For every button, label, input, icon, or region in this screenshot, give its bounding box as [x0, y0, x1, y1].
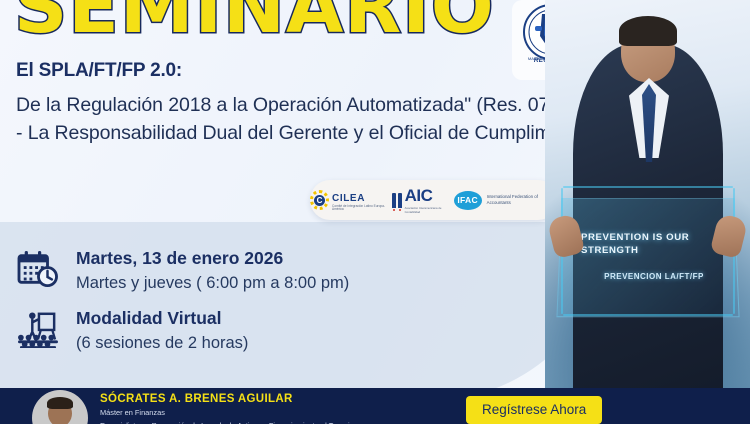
seminar-poster: SEMINARIO El SPLA/FT/FP 2.0: De la Regul…	[0, 0, 750, 424]
ifac-icon: IFAC	[454, 191, 482, 210]
calendar-clock-icon	[14, 248, 62, 288]
schedule-row-date: Martes, 13 de enero 2026 Martes y jueves…	[14, 248, 349, 294]
hologram-glow-line	[563, 186, 733, 188]
speaker-info: SÓCRATES A. BRENES AGUILAR Máster en Fin…	[100, 393, 430, 424]
aic-icon	[392, 193, 402, 208]
presenter-photo: PREVENTION IS OUR STRENGTH PREVENCION LA…	[545, 0, 750, 390]
partner-name-aic: AIC	[405, 186, 433, 205]
presenter-audience-icon	[14, 308, 62, 348]
partner-logo-ifac: IFAC International Federation of Account…	[454, 191, 558, 210]
partner-logo-aic: AIC Asociación Interamericana de Contabi…	[392, 186, 454, 214]
seminar-description: De la Regulación 2018 a la Operación Aut…	[16, 92, 616, 147]
speaker-credential-2: Especialista en Prevención de Lavado de …	[100, 420, 430, 424]
schedule-modality-title: Modalidad Virtual	[76, 308, 248, 330]
seminar-subtitle: El SPLA/FT/FP 2.0:	[16, 60, 182, 82]
cilea-icon: C	[310, 190, 329, 210]
page-title: SEMINARIO	[14, 0, 495, 44]
register-button[interactable]: Regístrese Ahora	[466, 396, 602, 424]
partner-logo-bar: C CILEA Comité de Integración Latino Eur…	[310, 180, 558, 220]
schedule-block: Martes, 13 de enero 2026 Martes y jueves…	[14, 248, 349, 368]
schedule-modality-detail: (6 sesiones de 2 horas)	[76, 332, 248, 354]
schedule-date-detail: Martes y jueves ( 6:00 pm a 8:00 pm)	[76, 272, 349, 294]
schedule-date-title: Martes, 13 de enero 2026	[76, 248, 349, 270]
partner-logo-cilea: C CILEA Comité de Integración Latino Eur…	[310, 189, 392, 211]
partner-sub-aic: Asociación Interamericana de Contabilida…	[405, 206, 454, 214]
partner-name-cilea: CILEA	[332, 193, 365, 204]
speaker-name: SÓCRATES A. BRENES AGUILAR	[100, 393, 430, 405]
schedule-row-modality: Modalidad Virtual (6 sesiones de 2 horas…	[14, 308, 349, 354]
speaker-credential-1: Máster en Finanzas	[100, 407, 430, 418]
photo-hair	[619, 16, 677, 46]
hologram-glow-line	[563, 314, 733, 316]
partner-sub-cilea: Comité de Integración Latino Europa-Amér…	[332, 205, 392, 211]
hologram-subtitle: PREVENCION LA/FT/FP	[569, 272, 739, 281]
